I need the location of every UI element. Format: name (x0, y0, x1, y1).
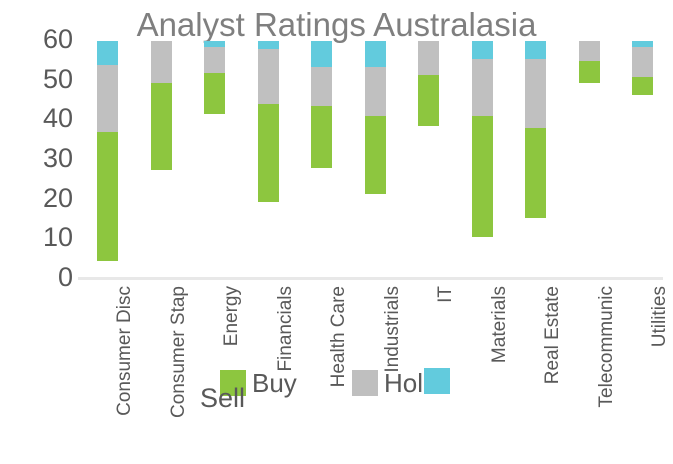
x-axis-label: IT (435, 286, 456, 303)
x-axis-label: Consumer Disc (114, 286, 135, 416)
buy-swatch (220, 370, 246, 396)
bar-segment-hold[interactable] (151, 41, 172, 83)
x-axis-label-text: Utilities (649, 286, 670, 347)
x-axis-label: Health Care (328, 286, 349, 387)
bar-segment-sell[interactable] (311, 41, 332, 67)
y-tick-label: 60 (29, 26, 73, 53)
bar-segment-sell[interactable] (472, 41, 493, 59)
sell-swatch (424, 368, 450, 394)
hold-swatch (352, 370, 378, 396)
bar-stack[interactable] (311, 41, 332, 279)
bar-stack[interactable] (151, 41, 172, 279)
x-axis-label-text: Energy (221, 286, 242, 346)
bar-segment-hold[interactable] (365, 67, 386, 117)
bar-segment-buy[interactable] (632, 77, 653, 95)
bar-segment-hold[interactable] (311, 67, 332, 107)
chart-title: Analyst Ratings Australasia (0, 6, 673, 44)
bar-segment-sell[interactable] (258, 41, 279, 49)
bar-stack[interactable] (204, 41, 225, 279)
y-axis: 6050403020100 (25, 0, 73, 464)
bar-segment-buy[interactable] (204, 73, 225, 115)
x-axis-label-text: Industrials (382, 286, 403, 373)
bar-stack[interactable] (365, 41, 386, 279)
x-axis-label-text: Real Estate (542, 286, 563, 384)
x-axis-label: Industrials (382, 286, 403, 373)
x-axis-label-text: Health Care (328, 286, 349, 387)
x-axis-label-text: Consumer Disc (114, 286, 135, 416)
x-axis-label-text: Telecommunic (596, 286, 617, 407)
bar-segment-hold[interactable] (472, 59, 493, 117)
bar-segment-buy[interactable] (311, 106, 332, 167)
bar-segment-buy[interactable] (365, 116, 386, 193)
bar-segment-buy[interactable] (579, 61, 600, 83)
chart-container: Analyst Ratings Australasia 605040302010… (0, 0, 673, 464)
bar-segment-sell[interactable] (525, 41, 546, 59)
bar-stack[interactable] (418, 41, 439, 279)
bar-segment-sell[interactable] (365, 41, 386, 67)
bar-stack[interactable] (472, 41, 493, 279)
x-axis-label: Financials (275, 286, 296, 372)
y-tick-label: 50 (29, 66, 73, 93)
bar-segment-hold[interactable] (525, 59, 546, 128)
y-tick-label: 0 (29, 264, 73, 291)
x-axis-label-text: IT (435, 286, 456, 303)
bar-segment-hold[interactable] (632, 47, 653, 77)
bar-segment-hold[interactable] (97, 65, 118, 132)
x-axis-label: Materials (489, 286, 510, 363)
bar-segment-sell[interactable] (97, 41, 118, 65)
y-tick-label: 20 (29, 185, 73, 212)
x-axis-label: Real Estate (542, 286, 563, 384)
y-tick-label: 40 (29, 105, 73, 132)
bar-segment-hold[interactable] (579, 41, 600, 61)
x-axis-label: Energy (221, 286, 242, 346)
bar-stack[interactable] (632, 41, 653, 279)
bar-stack[interactable] (258, 41, 279, 279)
bar-segment-hold[interactable] (204, 47, 225, 73)
plot-area (78, 40, 663, 279)
bar-stack[interactable] (97, 41, 118, 279)
bar-segment-hold[interactable] (258, 49, 279, 105)
bar-segment-hold[interactable] (418, 41, 439, 75)
y-tick-label: 10 (29, 224, 73, 251)
x-axis-label-text: Materials (489, 286, 510, 363)
x-axis-label-text: Financials (275, 286, 296, 372)
x-axis-label: Telecommunic (596, 286, 617, 407)
bar-segment-buy[interactable] (97, 132, 118, 261)
x-axis-label: Consumer Stap (168, 286, 189, 418)
y-tick-label: 30 (29, 145, 73, 172)
bar-segment-buy[interactable] (151, 83, 172, 170)
x-axis-label: Utilities (649, 286, 670, 347)
legend-label-buy: Buy (252, 370, 297, 396)
bar-segment-buy[interactable] (525, 128, 546, 217)
x-axis-label-text: Consumer Stap (168, 286, 189, 418)
bar-segment-buy[interactable] (472, 116, 493, 237)
bar-stack[interactable] (525, 41, 546, 279)
bar-segment-buy[interactable] (258, 104, 279, 201)
bar-segment-buy[interactable] (418, 75, 439, 127)
bar-stack[interactable] (579, 41, 600, 279)
